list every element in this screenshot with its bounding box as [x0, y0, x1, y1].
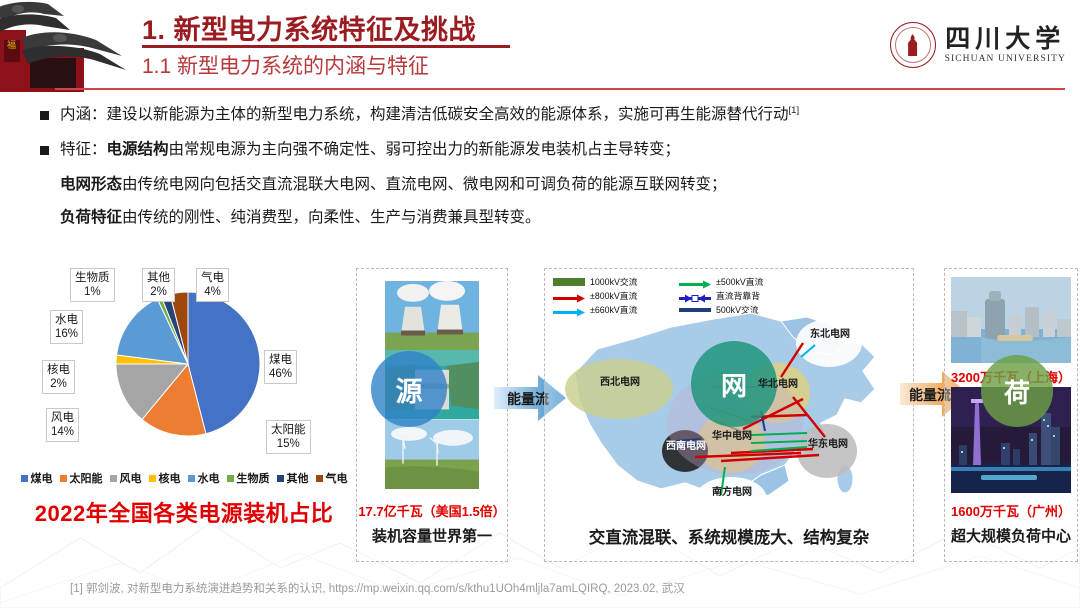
page-title: 1. 新型电力系统特征及挑战: [142, 8, 476, 47]
bullet-item-1: 内涵：建设以新能源为主体的新型电力系统，构建清洁低碳安全高效的能源体系，实施可再…: [40, 104, 1050, 126]
pie-label-value-1: 15%: [271, 437, 306, 451]
pie-label-太阳能: 太阳能 15%: [266, 420, 311, 454]
pie-legend-label: 其他: [287, 470, 309, 486]
pie-label-value-0: 46%: [269, 367, 292, 381]
pie-label-value-5: 1%: [75, 285, 110, 299]
pie-label-name-1: 太阳能: [271, 423, 306, 437]
bullet2-text: 由常规电源为主向强不确定性、弱可控出力的新能源发电装机占主导转变；: [169, 141, 681, 158]
source-circle-label: 源: [396, 370, 423, 409]
pie-legend-item-其他: 其他: [277, 470, 309, 486]
pie-legend-label: 水电: [198, 470, 220, 486]
page-subtitle: 1.1 新型电力系统的内涵与特征: [142, 50, 429, 80]
region-label-northeast: 东北电网: [799, 329, 861, 341]
pie-legend-item-水电: 水电: [188, 470, 220, 486]
map-legend-label: ±500kV直流: [716, 275, 763, 288]
grid-circle-label: 网: [721, 366, 747, 403]
pie-label-水电: 水电 16%: [50, 310, 83, 344]
pie-chart-panel: 生物质 1% 其他 2% 气电 4% 水电 16% 核电 2% 风电 14%: [16, 268, 352, 566]
load-circle-badge: 荷: [981, 355, 1053, 427]
pie-legend-swatch-icon: [149, 475, 156, 482]
grid-map-panel: 1000kV交流±500kV直流±800kV直流直流背靠背±660kV直流500…: [544, 268, 914, 562]
bullet2-bold-term: 电源结构: [107, 141, 169, 158]
map-legend-item-±800kV直流: ±800kV直流: [553, 289, 665, 302]
pie-chart: [114, 290, 262, 438]
wind-farm-photo: [385, 420, 479, 489]
pie-label-value-7: 4%: [201, 285, 224, 299]
pavilion-decoration-image: 福: [0, 0, 128, 92]
source-capacity-text: 17.7亿千瓦（美国1.5倍）: [357, 501, 507, 520]
pie-legend-swatch-icon: [21, 475, 28, 482]
subline-3: 电网形态由传统电网向包括交直流混联大电网、直流电网、微电网和可调负荷的能源互联网…: [60, 174, 1050, 196]
map-legend-label: ±800kV直流: [590, 289, 637, 302]
panels-row: 生物质 1% 其他 2% 气电 4% 水电 16% 核电 2% 风电 14%: [16, 268, 1066, 566]
pie-label-name-5: 生物质: [75, 271, 110, 285]
map-legend-line-icon: [679, 294, 711, 298]
pie-label-value-6: 2%: [147, 285, 170, 299]
bullet1-superscript: [1]: [789, 105, 800, 116]
subline3-bold-term: 电网形态: [60, 176, 122, 193]
china-map: 网 西北电网 华北电网 东北电网 华中电网 华东电网 西南电网 南方电网: [545, 303, 913, 521]
footnote-reference: [1] 郭剑波, 对新型电力系统演进趋势和关系的认识, https://mp.w…: [70, 580, 685, 596]
pie-legend-item-气电: 气电: [316, 470, 348, 486]
pie-legend-item-煤电: 煤电: [21, 470, 53, 486]
shanghai-skyline-photo: [951, 277, 1071, 363]
logo-chinese-name: 四川大学: [945, 26, 1065, 51]
source-panel: 源 17.7亿千瓦（美国1.5倍） 装机容量世界第一: [356, 268, 508, 562]
logo-english-name: SICHUAN UNIVERSITY: [945, 55, 1066, 65]
bullet-item-2: 特征：电源结构由常规电源为主向强不确定性、弱可控出力的新能源发电装机占主导转变；: [40, 139, 1050, 161]
map-legend-item-直流背靠背: 直流背靠背: [679, 289, 853, 302]
pie-label-value-4: 16%: [55, 327, 78, 341]
bullet1-text: 建设以新能源为主体的新型电力系统，构建清洁低碳安全高效的能源体系，实施可再生能源…: [107, 106, 789, 123]
pie-legend-item-太阳能: 太阳能: [60, 470, 103, 486]
load-caption-text: 超大规模负荷中心: [945, 525, 1077, 546]
bullet-sublines: 电网形态由传统电网向包括交直流混联大电网、直流电网、微电网和可调负荷的能源互联网…: [60, 174, 1050, 228]
bullet-square-icon: [40, 111, 49, 120]
grid-caption-text: 交直流混联、系统规模庞大、结构复杂: [545, 524, 913, 548]
pie-label-name-0: 煤电: [269, 353, 292, 367]
load-capacity-bottom-text: 1600万千瓦（广州）: [945, 501, 1077, 520]
pie-label-value-2: 14%: [51, 425, 74, 439]
region-label-south: 南方电网: [701, 487, 763, 499]
load-circle-label: 荷: [1004, 373, 1030, 410]
pie-label-name-2: 风电: [51, 411, 74, 425]
pie-legend-label: 风电: [120, 470, 142, 486]
pie-legend-swatch-icon: [60, 475, 67, 482]
pie-label-name-3: 核电: [47, 363, 70, 377]
pie-chart-title: 2022年全国各类电源装机占比: [16, 496, 352, 528]
pie-legend-item-生物质: 生物质: [227, 470, 270, 486]
bullet-square-icon: [40, 146, 49, 155]
map-legend-line-icon: [553, 278, 585, 286]
pie-chart-svg: [114, 290, 262, 438]
pie-label-核电: 核电 2%: [42, 360, 75, 394]
map-legend-label: 直流背靠背: [716, 289, 760, 302]
region-label-east: 华东电网: [797, 439, 859, 451]
bullet2-label: 特征：: [60, 141, 107, 158]
subline4-bold-term: 负荷特征: [60, 209, 122, 226]
pie-legend-swatch-icon: [227, 475, 234, 482]
bullet1-label: 内涵：: [60, 106, 107, 123]
source-caption-text: 装机容量世界第一: [357, 525, 507, 546]
pie-label-name-7: 气电: [201, 271, 224, 285]
source-circle-badge: 源: [371, 351, 447, 427]
subline3-text: 由传统电网向包括交直流混联大电网、直流电网、微电网和可调负荷的能源互联网转变；: [122, 176, 727, 193]
cooling-towers-photo: [385, 281, 479, 350]
sichuan-university-logo: 四川大学 SICHUAN UNIVERSITY: [890, 22, 1066, 68]
slide-root: 福 1. 新型电力系统特征及挑战 1.1 新型电力系统的内涵与特征 四川大学 S…: [0, 0, 1080, 608]
pie-legend-item-风电: 风电: [110, 470, 142, 486]
pie-legend-label: 太阳能: [70, 470, 103, 486]
pie-legend-item-核电: 核电: [149, 470, 181, 486]
pie-legend-label: 生物质: [237, 470, 270, 486]
pie-legend-label: 核电: [159, 470, 181, 486]
map-legend-line-icon: [679, 280, 711, 284]
pie-legend-swatch-icon: [316, 475, 323, 482]
pie-label-煤电: 煤电 46%: [264, 350, 297, 384]
pie-legend-swatch-icon: [277, 475, 284, 482]
seal-mark-icon: [905, 34, 921, 56]
region-label-southwest: 西南电网: [655, 441, 717, 453]
pie-label-name-6: 其他: [147, 271, 170, 285]
subline4-text: 由传统的刚性、纯消费型，向柔性、生产与消费兼具型转变。: [122, 209, 541, 226]
title-underline: [142, 45, 510, 48]
subline-4: 负荷特征由传统的刚性、纯消费型，向柔性、生产与消费兼具型转变。: [60, 207, 1050, 229]
pie-label-风电: 风电 14%: [46, 408, 79, 442]
map-legend-item-1000kV交流: 1000kV交流: [553, 275, 665, 288]
map-legend-item-±500kV直流: ±500kV直流: [679, 275, 853, 288]
map-legend-line-icon: [553, 294, 585, 298]
pie-label-value-3: 2%: [47, 377, 70, 391]
pie-legend-swatch-icon: [110, 475, 117, 482]
body-bullets: 内涵：建设以新能源为主体的新型电力系统，构建清洁低碳安全高效的能源体系，实施可再…: [40, 104, 1050, 240]
svg-text:福: 福: [7, 39, 16, 50]
header-divider: [55, 88, 1065, 90]
pie-label-气电: 气电 4%: [196, 268, 229, 302]
pie-legend-label: 煤电: [31, 470, 53, 486]
pie-chart-legend: 煤电太阳能风电核电水电生物质其他气电: [16, 470, 352, 486]
pie-label-name-4: 水电: [55, 313, 78, 327]
pie-label-其他: 其他 2%: [142, 268, 175, 302]
pie-legend-label: 气电: [326, 470, 348, 486]
region-label-north: 华北电网: [747, 379, 809, 391]
region-label-northwest: 西北电网: [589, 377, 651, 389]
pie-label-生物质: 生物质 1%: [70, 268, 115, 302]
pie-legend-swatch-icon: [188, 475, 195, 482]
map-legend-label: 1000kV交流: [590, 275, 637, 288]
university-seal-icon: [890, 22, 936, 68]
load-panel: 3200万千瓦（上海）: [944, 268, 1078, 562]
